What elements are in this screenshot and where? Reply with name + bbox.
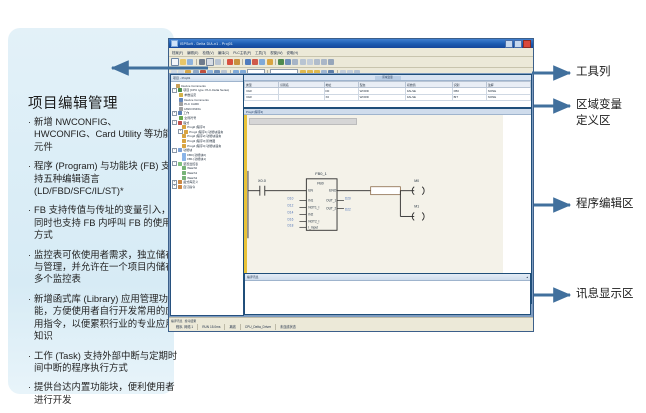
callout-message-display: 讯息显示区 <box>576 287 634 302</box>
callout-variable-line1: 区域变量 <box>576 98 622 113</box>
slide-root: 项目编辑管理 · 新增 NWCONFIG、HWCONFIG、Card Utili… <box>0 0 646 401</box>
callout-variable-line2: 定义区 <box>576 114 611 129</box>
callout-toolbar: 工具列 <box>576 65 611 80</box>
callout-arrows <box>0 0 646 401</box>
callout-program-editor: 程序编辑区 <box>576 197 634 212</box>
